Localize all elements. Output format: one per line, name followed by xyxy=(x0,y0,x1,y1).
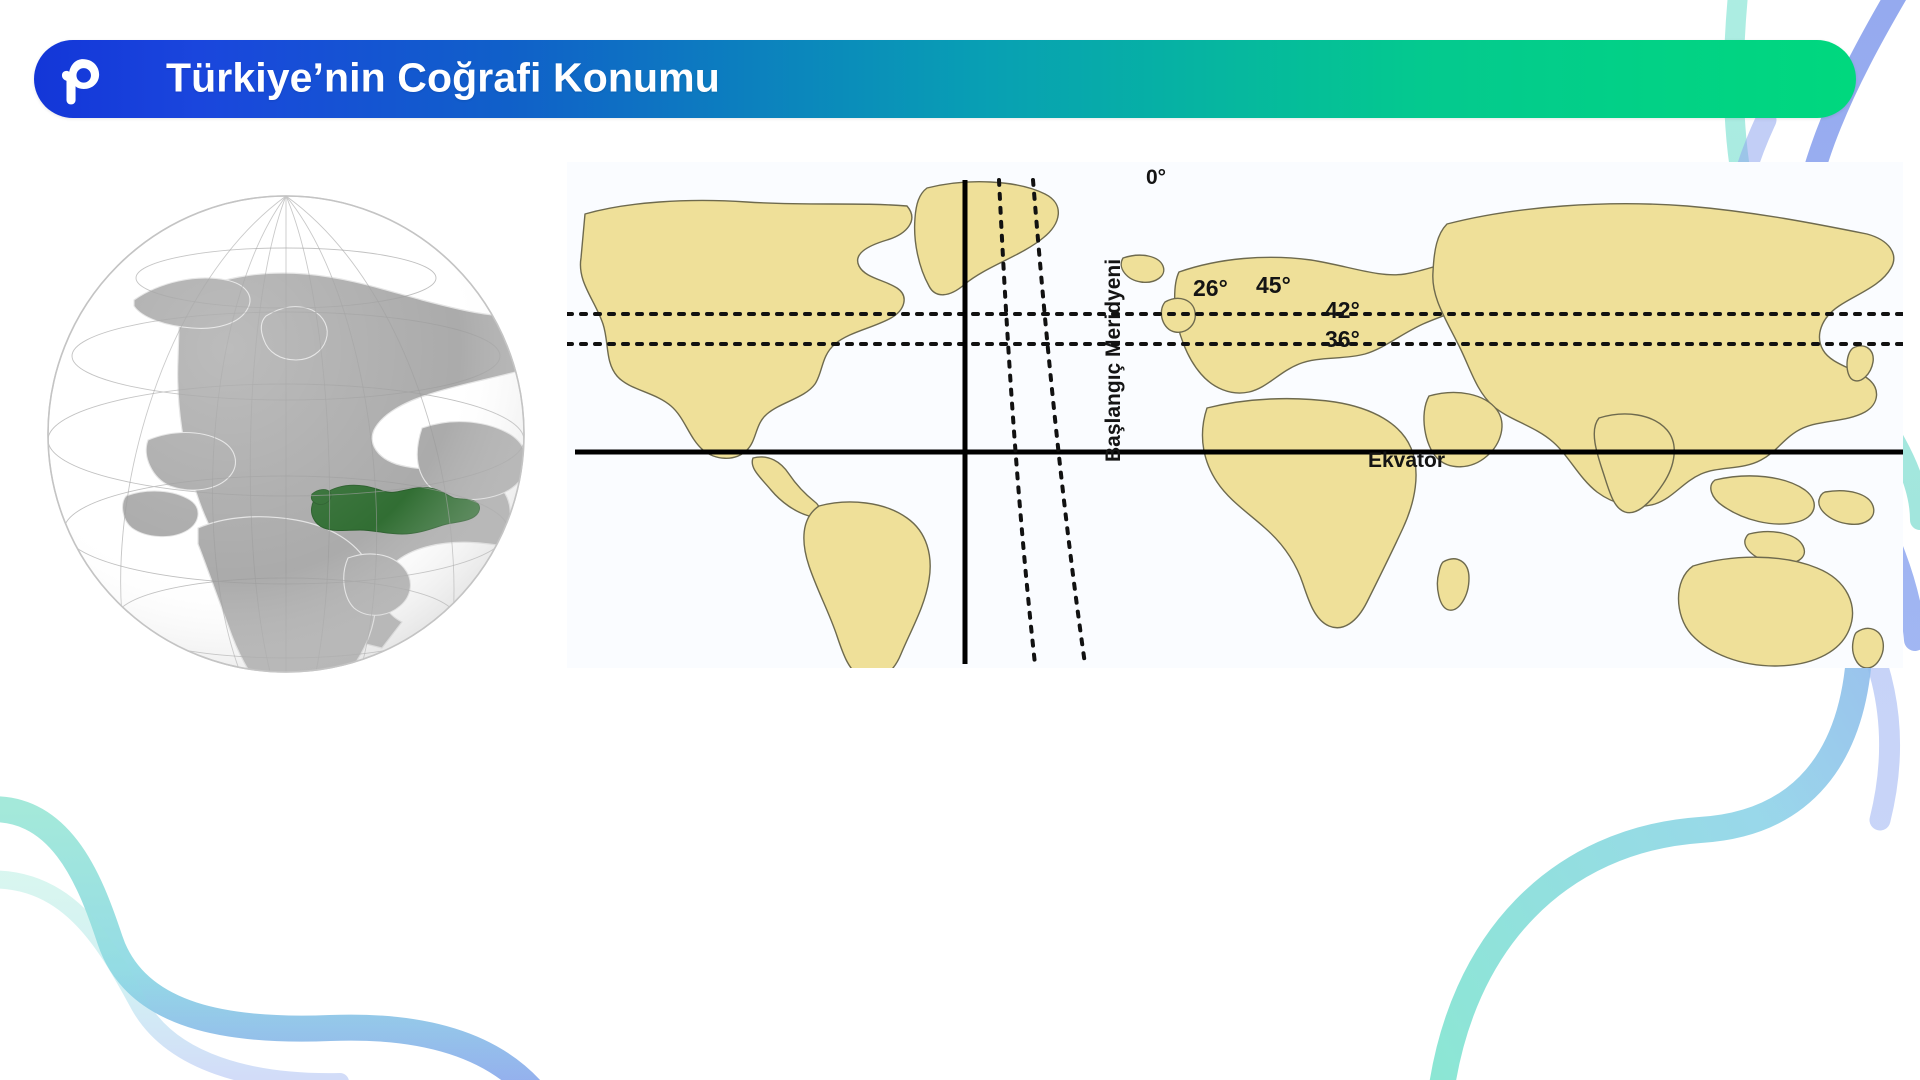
ribbon-bottom-left-secondary xyxy=(0,879,340,1080)
label-meridian-45: 45° xyxy=(1256,272,1291,299)
label-prime-meridian-top: 0° xyxy=(1146,166,1166,190)
label-parallel-42: 42° xyxy=(1325,297,1360,324)
ribbon-bottom-left xyxy=(0,809,540,1080)
label-equator: Ekvator xyxy=(1368,449,1445,473)
label-prime-meridian: Başlangıç Meridyeni xyxy=(1102,259,1126,462)
label-parallel-36: 36° xyxy=(1325,326,1360,353)
world-map xyxy=(567,162,1903,668)
pi-logo-icon xyxy=(50,48,112,110)
page-title: Türkiye’nin Coğrafi Konumu xyxy=(166,55,720,102)
globe-shading xyxy=(48,196,524,672)
header-bar: Türkiye’nin Coğrafi Konumu xyxy=(34,40,1856,118)
slide-canvas: Türkiye’nin Coğrafi Konumu xyxy=(0,0,1920,1080)
turkey-highlight xyxy=(318,684,320,686)
label-meridian-26: 26° xyxy=(1193,275,1228,302)
globe-illustration xyxy=(30,178,542,690)
